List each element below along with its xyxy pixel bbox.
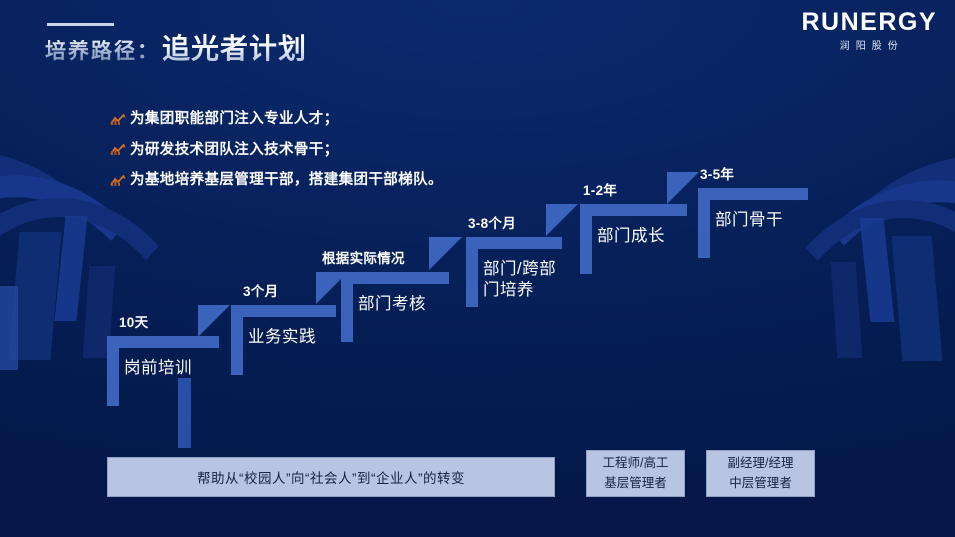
role-box-manager: 副经理/经理 中层管理者 [706, 450, 815, 497]
slide-canvas: 培养路径：追光者计划 RUNERGY 润阳股份 为集团职能部门注入专业人才； [0, 0, 955, 537]
step-name: 部门/跨部门培养 [483, 259, 563, 300]
step-riser-triangle [546, 204, 578, 236]
step-horizontal-bar [698, 188, 808, 200]
role-manager-line1: 副经理/经理 [728, 454, 794, 473]
step-horizontal-bar [580, 204, 687, 216]
step-horizontal-bar [341, 272, 449, 284]
step-duration: 10天 [119, 316, 148, 330]
step-riser-triangle [667, 172, 699, 204]
role-manager-line2: 中层管理者 [729, 474, 792, 493]
step-name: 岗前培训 [124, 358, 234, 379]
step-horizontal-bar [107, 336, 219, 348]
role-box-engineer: 工程师/高工 基层管理者 [586, 450, 685, 497]
step-duration: 3-8个月 [468, 217, 516, 231]
step-riser-triangle [429, 237, 462, 270]
step-riser-triangle [198, 305, 230, 337]
step-duration: 根据实际情况 [322, 252, 405, 266]
step-duration: 3个月 [243, 285, 278, 299]
step-duration: 3-5年 [700, 168, 734, 182]
summary-box: 帮助从“校园人”向“社会人”到“企业人”的转变 [107, 457, 555, 497]
step-name: 部门考核 [358, 294, 468, 315]
step-horizontal-bar [466, 237, 562, 249]
step-name: 业务实践 [248, 327, 353, 348]
step-horizontal-bar [231, 305, 336, 317]
step-name: 部门成长 [597, 226, 702, 247]
role-engineer-line1: 工程师/高工 [603, 454, 669, 473]
summary-text: 帮助从“校园人”向“社会人”到“企业人”的转变 [197, 467, 465, 487]
step-name: 部门骨干 [715, 210, 820, 231]
role-engineer-line2: 基层管理者 [604, 474, 667, 493]
step-duration: 1-2年 [583, 184, 617, 198]
